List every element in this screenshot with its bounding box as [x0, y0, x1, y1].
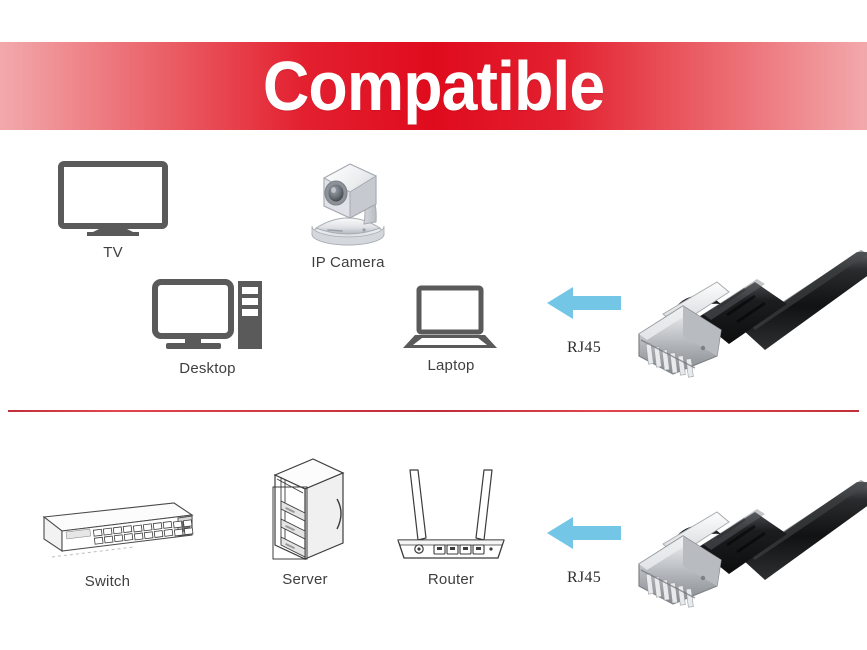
device-label-ip-camera: IP Camera	[288, 254, 408, 271]
desktop-icon-wrap	[145, 278, 270, 354]
device-label-laptop: Laptop	[395, 357, 507, 374]
device-switch: Switch	[20, 495, 195, 590]
arrow-left-icon	[545, 283, 623, 323]
ip-camera-icon-wrap	[288, 152, 408, 248]
rj45-cable-bottom	[625, 482, 867, 607]
arrow-left-icon	[545, 513, 623, 553]
device-label-switch: Switch	[20, 573, 195, 590]
network-switch-icon	[22, 495, 194, 567]
server-rack-icon	[259, 455, 351, 565]
device-label-server: Server	[255, 571, 355, 588]
desktop-icon	[152, 278, 264, 354]
device-server: Server	[255, 455, 355, 588]
section-divider	[8, 410, 859, 412]
device-ip-camera: IP Camera	[288, 152, 408, 271]
rj45-label-bottom: RJ45	[536, 569, 632, 587]
laptop-icon	[401, 285, 501, 351]
banner-title: Compatible	[263, 51, 604, 121]
device-label-desktop: Desktop	[145, 360, 270, 377]
rj45-connector-top: RJ45	[536, 283, 632, 357]
switch-icon-wrap	[20, 495, 195, 567]
device-laptop: Laptop	[395, 285, 507, 374]
device-label-tv: TV	[48, 244, 178, 261]
tv-icon-wrap	[48, 160, 178, 238]
compatibility-diagram: Compatible TV	[0, 0, 867, 650]
wifi-router-icon	[392, 460, 510, 565]
device-desktop: Desktop	[145, 278, 270, 377]
rj45-cable-top	[625, 252, 867, 377]
device-label-router: Router	[390, 571, 512, 588]
ip-camera-icon	[298, 152, 398, 248]
rj45-label-top: RJ45	[536, 339, 632, 357]
server-icon-wrap	[255, 455, 355, 565]
device-tv: TV	[48, 160, 178, 261]
router-icon-wrap	[390, 460, 512, 565]
rj45-connector-bottom: RJ45	[536, 513, 632, 587]
device-router: Router	[390, 460, 512, 588]
rj45-cable-image	[625, 482, 867, 607]
tv-icon	[57, 160, 169, 238]
laptop-icon-wrap	[395, 285, 507, 351]
compatible-banner: Compatible	[0, 42, 867, 130]
rj45-cable-image	[625, 252, 867, 377]
